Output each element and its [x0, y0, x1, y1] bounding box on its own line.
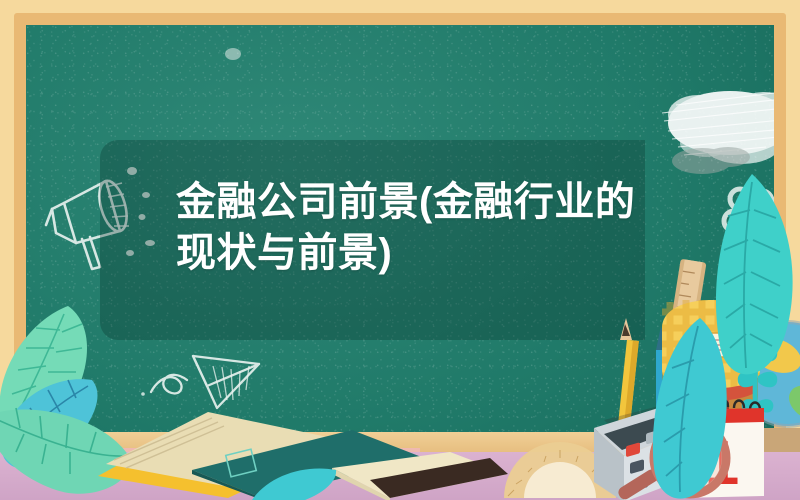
leaf-illustration	[250, 460, 340, 500]
chalk-mark	[221, 43, 245, 65]
page-title: 金融公司前景(金融行业的 现状与前景)	[176, 177, 646, 279]
poster-canvas: 金融公司前景(金融行业的 现状与前景)	[0, 0, 800, 500]
chalk-eraser-smudge	[654, 77, 774, 182]
book-illustration	[330, 452, 510, 500]
megaphone-chalk-icon	[30, 147, 162, 287]
leaf-illustration	[644, 316, 740, 500]
